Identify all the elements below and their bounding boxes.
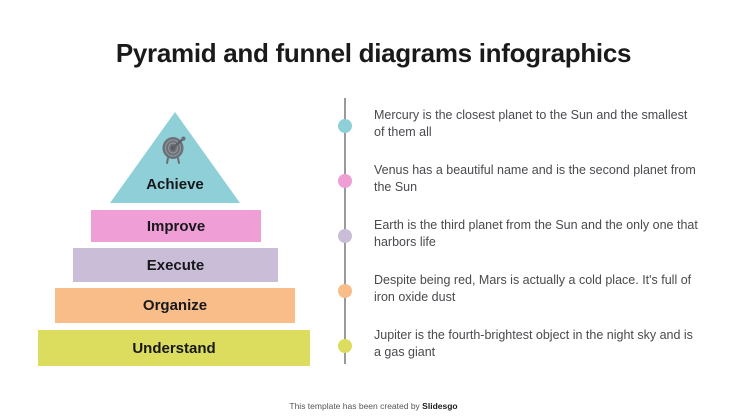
footer-brand[interactable]: Slidesgo: [422, 401, 457, 411]
timeline-dot-1: [338, 119, 352, 133]
list-item-text: Earth is the third planet from the Sun a…: [374, 217, 699, 251]
pyramid-level-execute[interactable]: Execute: [73, 248, 278, 282]
pyramid-level-organize[interactable]: Organize: [55, 288, 295, 323]
list-item-text: Mercury is the closest planet to the Sun…: [374, 107, 699, 141]
timeline-dot-5: [338, 339, 352, 353]
timeline-dot-2: [338, 174, 352, 188]
pyramid-level-label-achieve: Achieve: [110, 176, 240, 193]
target-dartboard-icon: [158, 134, 192, 168]
pyramid-diagram: Achieve Improve Execute Organize Underst…: [0, 100, 330, 375]
footer-prefix: This template has been created by: [289, 401, 422, 411]
list-item-text: Despite being red, Mars is actually a co…: [374, 272, 699, 306]
pyramid-level-improve[interactable]: Improve: [91, 210, 261, 242]
timeline-dot-3: [338, 229, 352, 243]
page-title: Pyramid and funnel diagrams infographics: [0, 38, 747, 69]
timeline-list: Mercury is the closest planet to the Sun…: [344, 98, 714, 364]
footer-credit: This template has been created by Slides…: [0, 401, 747, 411]
list-item-text: Venus has a beautiful name and is the se…: [374, 162, 699, 196]
pyramid-level-understand[interactable]: Understand: [38, 330, 310, 366]
timeline-dot-4: [338, 284, 352, 298]
list-item-text: Jupiter is the fourth-brightest object i…: [374, 327, 699, 361]
